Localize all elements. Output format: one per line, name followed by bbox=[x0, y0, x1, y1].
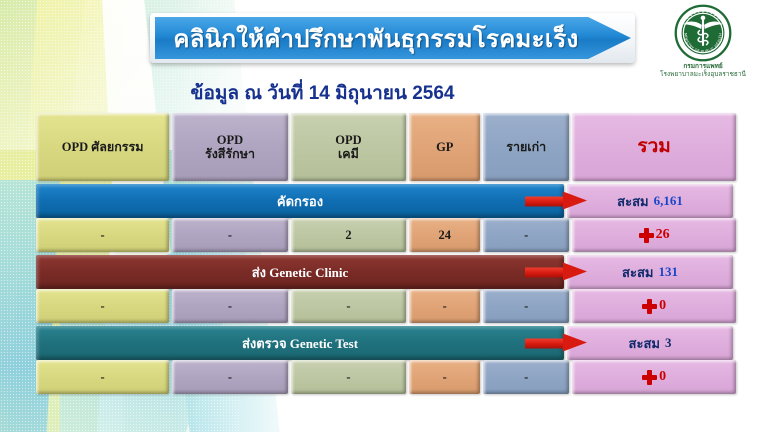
total-cell-new: 26 bbox=[572, 218, 736, 252]
cumulative-value: 131 bbox=[658, 264, 678, 280]
total-cell-new: 0 bbox=[572, 360, 736, 394]
column-header-opd-radiotherapy: OPD รังสีรักษา bbox=[172, 113, 287, 181]
cell-opd-chemo: - bbox=[291, 360, 406, 394]
column-header-total: รวม bbox=[572, 113, 736, 181]
band-text: ส่งตรวจ Genetic Test bbox=[242, 333, 358, 354]
band-label-genetic-clinic: ส่ง Genetic Clinic bbox=[36, 255, 564, 289]
table-header-row: OPD ศัลยกรรม OPD รังสีรักษา OPD เคมี GP … bbox=[36, 113, 736, 181]
cumulative-value: 3 bbox=[665, 335, 672, 351]
table-row: - - - - - 0 bbox=[36, 360, 736, 394]
cell-opd-radiotherapy: - bbox=[172, 289, 287, 323]
column-header-line1: GP bbox=[436, 140, 453, 154]
cell-gp: - bbox=[409, 289, 480, 323]
cell-opd-chemo: - bbox=[291, 289, 406, 323]
total-cell-new: 0 bbox=[572, 289, 736, 323]
table-row: - - 2 24 - 26 bbox=[36, 218, 736, 252]
cell-gp: 24 bbox=[409, 218, 480, 252]
band-label-genetic-test: ส่งตรวจ Genetic Test bbox=[36, 326, 564, 360]
data-table: OPD ศัลยกรรม OPD รังสีรักษา OPD เคมี GP … bbox=[36, 113, 736, 394]
red-plus-icon bbox=[642, 370, 657, 385]
cell-opd-surgery: - bbox=[36, 218, 169, 252]
cell-opd-chemo: 2 bbox=[291, 218, 406, 252]
column-header-opd-surgery: OPD ศัลยกรรม bbox=[36, 113, 169, 181]
logo-caption-hospital: โรงพยาบาลมะเร็งอุบลราชธานี bbox=[644, 71, 762, 79]
cell-old-cases: - bbox=[483, 289, 569, 323]
column-header-gp: GP bbox=[409, 113, 480, 181]
cumulative-label: สะสม bbox=[622, 262, 653, 283]
new-count-value: 0 bbox=[659, 298, 666, 314]
band-text: คัดกรอง bbox=[277, 191, 323, 212]
page-title: คลินิกให้คำปรึกษาพันธุกรรมโรคมะเร็ง bbox=[173, 19, 578, 58]
column-header-line1: OPD ศัลยกรรม bbox=[62, 140, 144, 154]
column-header-line1: รายเก่า bbox=[506, 140, 546, 154]
column-header-old-cases: รายเก่า bbox=[483, 113, 569, 181]
table-row: คัดกรอง สะสม 6,161 bbox=[36, 184, 736, 218]
organization-logo-block: • • • • • • • • • MINISTRY OF PUBLIC HEA… bbox=[644, 4, 762, 79]
cumulative-label: สะสม bbox=[617, 191, 648, 212]
ministry-of-public-health-emblem-icon: • • • • • • • • • MINISTRY OF PUBLIC HEA… bbox=[674, 4, 732, 62]
band-label-screening: คัดกรอง bbox=[36, 184, 564, 218]
column-header-line1: OPD bbox=[217, 133, 243, 147]
cell-opd-radiotherapy: - bbox=[172, 218, 287, 252]
subtitle-date: ข้อมูล ณ วันที่ 14 มิถุนายน 2564 bbox=[0, 78, 645, 108]
logo-caption-department: กรมการแพทย์ bbox=[644, 63, 762, 71]
cell-opd-surgery: - bbox=[36, 360, 169, 394]
band-text: ส่ง Genetic Clinic bbox=[252, 262, 349, 283]
banner-arrow-shape: คลินิกให้คำปรึกษาพันธุกรรมโรคมะเร็ง bbox=[155, 17, 631, 59]
cell-opd-radiotherapy: - bbox=[172, 360, 287, 394]
table-row: ส่งตรวจ Genetic Test สะสม 3 bbox=[36, 326, 736, 360]
total-cell-screening: สะสม 6,161 bbox=[567, 184, 733, 218]
red-plus-icon bbox=[642, 299, 657, 314]
new-count-value: 26 bbox=[656, 227, 670, 243]
column-header-opd-chemo: OPD เคมี bbox=[291, 113, 406, 181]
cumulative-label: สะสม bbox=[629, 333, 660, 354]
cell-old-cases: - bbox=[483, 360, 569, 394]
column-header-line2: รังสีรักษา bbox=[205, 147, 255, 161]
total-cell-genetic-test: สะสม 3 bbox=[567, 326, 733, 360]
table-row: - - - - - 0 bbox=[36, 289, 736, 323]
cell-old-cases: - bbox=[483, 218, 569, 252]
column-header-line2: เคมี bbox=[338, 147, 359, 161]
cell-opd-surgery: - bbox=[36, 289, 169, 323]
cell-gp: - bbox=[409, 360, 480, 394]
column-header-line1: OPD bbox=[335, 133, 361, 147]
header: คลินิกให้คำปรึกษาพันธุกรรมโรคมะเร็ง ข้อม… bbox=[0, 0, 768, 112]
total-cell-genetic-clinic: สะสม 131 bbox=[567, 255, 733, 289]
table-row: ส่ง Genetic Clinic สะสม 131 bbox=[36, 255, 736, 289]
cumulative-value: 6,161 bbox=[654, 193, 683, 209]
new-count-value: 0 bbox=[659, 369, 666, 385]
red-plus-icon bbox=[639, 228, 654, 243]
